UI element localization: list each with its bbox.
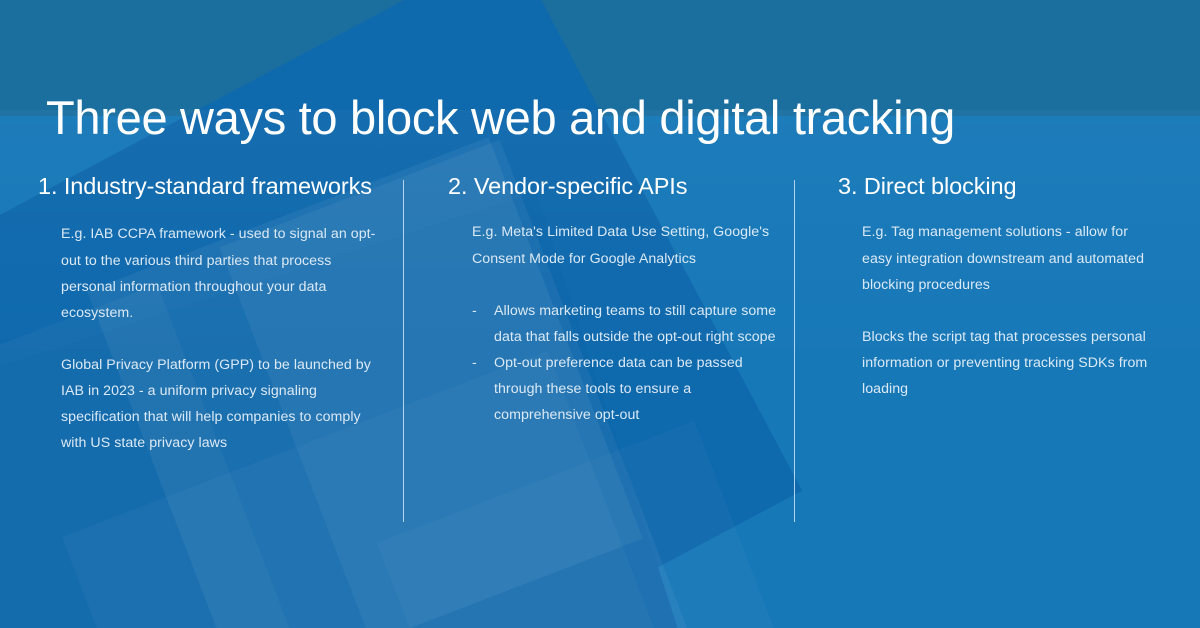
page-title: Three ways to block web and digital trac…: [46, 91, 1146, 146]
list-item: - Allows marketing teams to still captur…: [472, 298, 783, 350]
column-direct-blocking: 3. Direct blocking E.g. Tag management s…: [838, 172, 1148, 402]
slide-canvas: Three ways to block web and digital trac…: [0, 0, 1200, 628]
column-divider-2: [794, 180, 795, 522]
column-2-bullet-list: - Allows marketing teams to still captur…: [472, 298, 783, 429]
column-3-heading: 3. Direct blocking: [838, 172, 1148, 201]
column-divider-1: [403, 180, 404, 522]
column-1-paragraph-2: Global Privacy Platform (GPP) to be laun…: [61, 352, 388, 457]
column-industry-standard-frameworks: 1. Industry-standard frameworks E.g. IAB…: [38, 172, 388, 456]
column-3-body: E.g. Tag management solutions - allow fo…: [838, 219, 1148, 402]
column-3-paragraph-2: Blocks the script tag that processes per…: [862, 324, 1148, 402]
column-vendor-specific-apis: 2. Vendor-specific APIs E.g. Meta's Limi…: [448, 172, 783, 428]
column-1-paragraph-1: E.g. IAB CCPA framework - used to signal…: [61, 221, 388, 326]
columns-container: 1. Industry-standard frameworks E.g. IAB…: [0, 172, 1200, 532]
column-2-paragraph-1: E.g. Meta's Limited Data Use Setting, Go…: [472, 219, 783, 271]
bullet-dash-icon: -: [472, 298, 477, 324]
column-2-body: E.g. Meta's Limited Data Use Setting, Go…: [448, 219, 783, 428]
list-item-label: Opt-out preference data can be passed th…: [494, 355, 743, 423]
bullet-dash-icon: -: [472, 350, 477, 376]
list-item: - Opt-out preference data can be passed …: [472, 350, 783, 428]
list-item-label: Allows marketing teams to still capture …: [494, 303, 776, 345]
column-2-heading: 2. Vendor-specific APIs: [448, 172, 783, 201]
column-1-heading: 1. Industry-standard frameworks: [38, 172, 388, 201]
column-3-paragraph-1: E.g. Tag management solutions - allow fo…: [862, 219, 1148, 297]
column-1-body: E.g. IAB CCPA framework - used to signal…: [38, 221, 388, 456]
